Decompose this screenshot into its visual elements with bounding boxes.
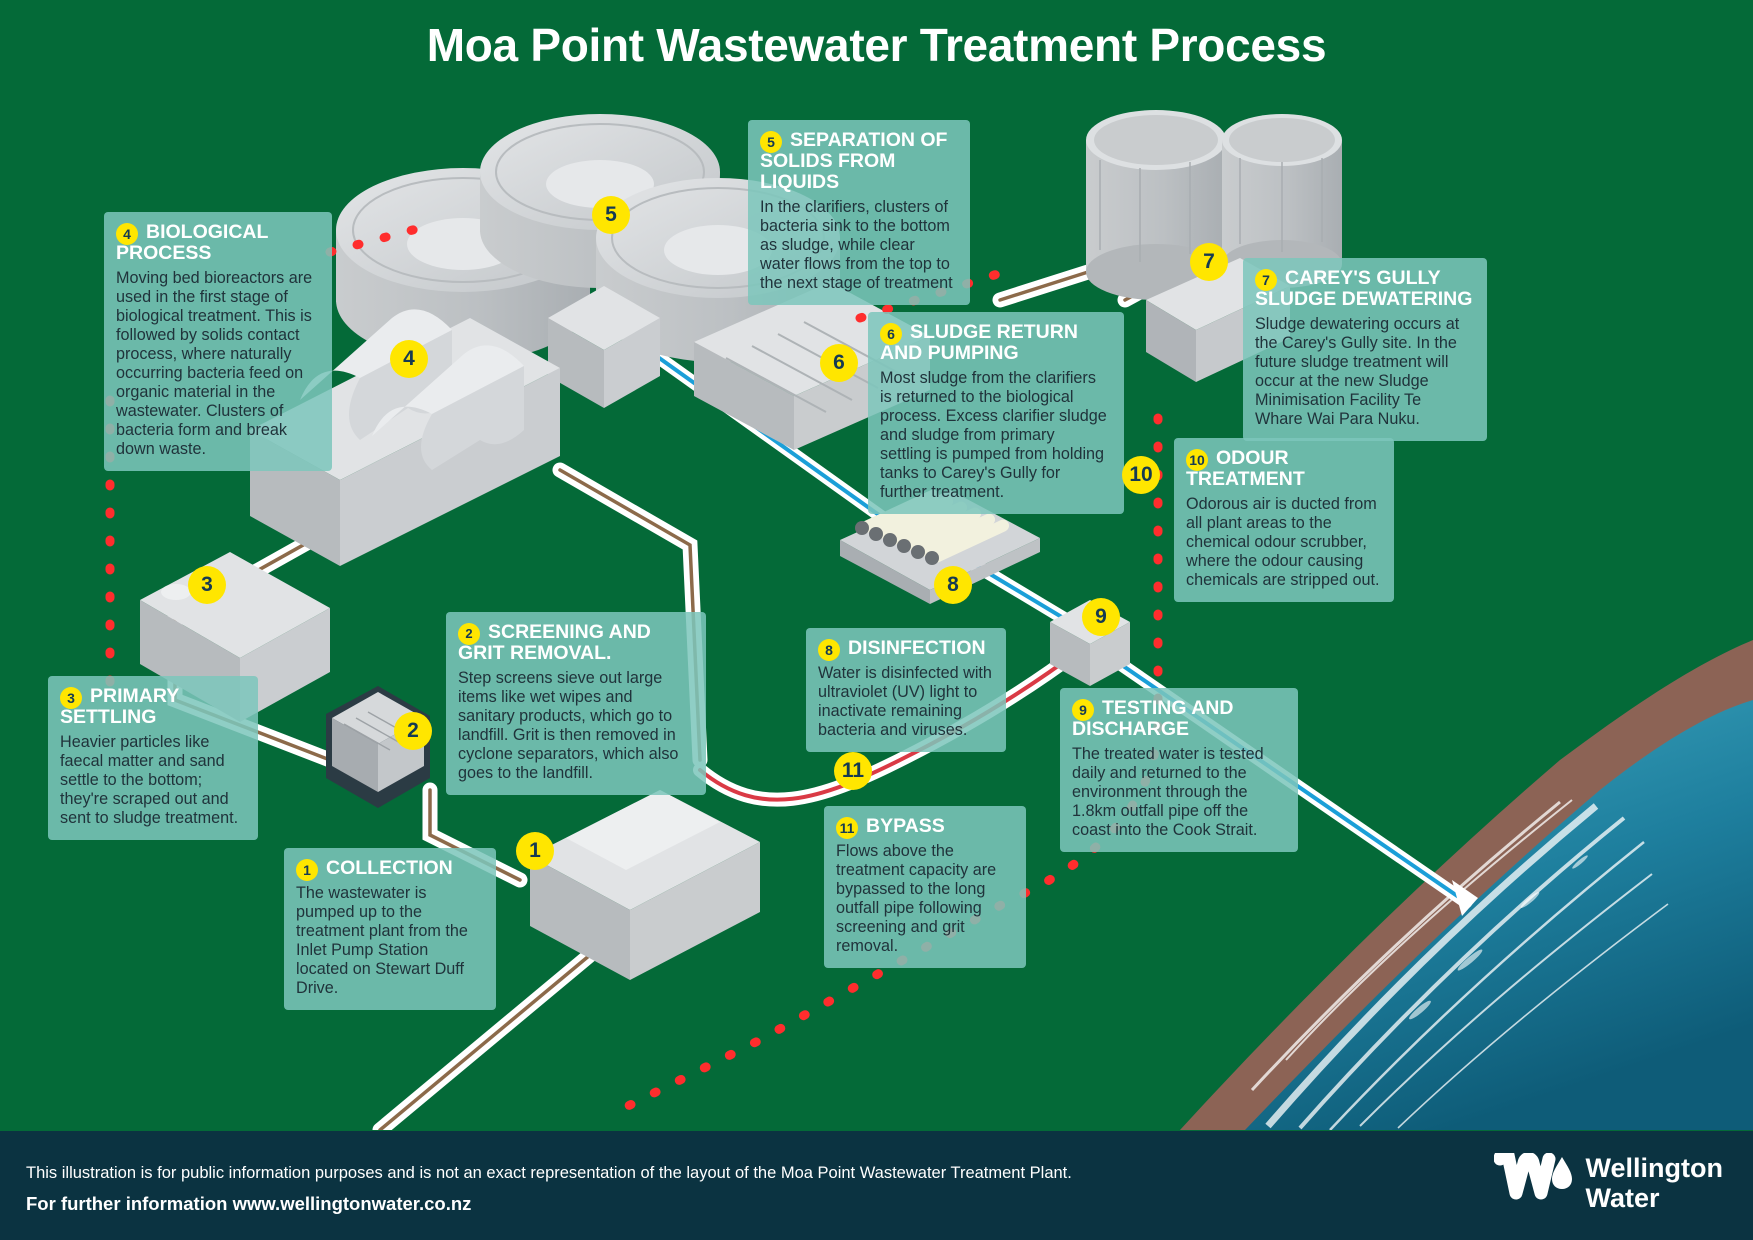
map-marker-8[interactable]: 8 (934, 566, 972, 604)
infographic-canvas: Moa Point Wastewater Treatment Process (0, 0, 1753, 1240)
callout-badge-2: 2 (458, 623, 480, 645)
callout-badge-11: 11 (836, 817, 858, 839)
logo-line-1: Wellington (1586, 1153, 1723, 1183)
callout-heading-8: DISINFECTION (818, 638, 992, 659)
map-marker-6[interactable]: 6 (820, 344, 858, 382)
footer-further-info: For further information www.wellingtonwa… (26, 1193, 471, 1215)
callout-separation: 5 SEPARATION OF SOLIDS FROM LIQUIDS In t… (748, 120, 970, 305)
callout-biological-process: 4 BIOLOGICAL PROCESS Moving bed bioreact… (104, 212, 332, 471)
callout-body-5: In the clarifiers, clusters of bacteria … (760, 198, 956, 293)
inlet-pump-station (530, 790, 760, 980)
callout-heading-7: CAREY'S GULLY SLUDGE DEWATERING (1255, 268, 1473, 310)
callout-sludge-return: 6 SLUDGE RETURN AND PUMPING Most sludge … (868, 312, 1124, 514)
callout-heading-6: SLUDGE RETURN AND PUMPING (880, 322, 1110, 364)
callout-badge-8: 8 (818, 639, 840, 661)
callout-body-2: Step screens sieve out large items like … (458, 669, 692, 783)
callout-badge-6: 6 (880, 323, 902, 345)
footer-bar: This illustration is for public informat… (0, 1131, 1753, 1240)
callout-body-7: Sludge dewatering occurs at the Carey's … (1255, 315, 1473, 429)
map-marker-11[interactable]: 11 (834, 752, 872, 790)
callout-body-1: The wastewater is pumped up to the treat… (296, 884, 482, 998)
callout-odour-treatment: 10 ODOUR TREATMENT Odorous air is ducted… (1174, 438, 1394, 602)
callout-badge-3: 3 (60, 687, 82, 709)
callout-testing-discharge: 9 TESTING AND DISCHARGE The treated wate… (1060, 688, 1298, 852)
callout-heading-1: COLLECTION (296, 858, 482, 879)
callout-body-3: Heavier particles like faecal matter and… (60, 733, 244, 828)
callout-careys-gully: 7 CAREY'S GULLY SLUDGE DEWATERING Sludge… (1243, 258, 1487, 441)
callout-body-8: Water is disinfected with ultraviolet (U… (818, 664, 992, 740)
callout-heading-5: SEPARATION OF SOLIDS FROM LIQUIDS (760, 130, 956, 193)
callout-badge-10: 10 (1186, 449, 1208, 471)
map-marker-9[interactable]: 9 (1082, 598, 1120, 636)
callout-collection: 1 COLLECTION The wastewater is pumped up… (284, 848, 496, 1010)
footer-disclaimer: This illustration is for public informat… (26, 1164, 1072, 1183)
callout-primary-settling: 3 PRIMARY SETTLING Heavier particles lik… (48, 676, 258, 840)
callout-body-11: Flows above the treatment capacity are b… (836, 842, 1012, 956)
callout-body-9: The treated water is tested daily and re… (1072, 745, 1284, 840)
logo-line-2: Water (1586, 1183, 1723, 1213)
callout-heading-10: ODOUR TREATMENT (1186, 448, 1380, 490)
wellington-water-logo[interactable]: Wellington Water (1494, 1153, 1723, 1213)
callout-bypass: 11 BYPASS Flows above the treatment capa… (824, 806, 1026, 968)
map-marker-5[interactable]: 5 (592, 196, 630, 234)
callout-badge-1: 1 (296, 859, 318, 881)
map-marker-3[interactable]: 3 (188, 566, 226, 604)
map-marker-1[interactable]: 1 (516, 832, 554, 870)
map-marker-7[interactable]: 7 (1190, 243, 1228, 281)
map-marker-4[interactable]: 4 (390, 340, 428, 378)
callout-screening-grit: 2 SCREENING AND GRIT REMOVAL. Step scree… (446, 612, 706, 795)
callout-body-6: Most sludge from the clarifiers is retur… (880, 369, 1110, 502)
callout-heading-11: BYPASS (836, 816, 1012, 837)
callout-heading-3: PRIMARY SETTLING (60, 686, 244, 728)
callout-badge-7: 7 (1255, 269, 1277, 291)
callout-disinfection: 8 DISINFECTION Water is disinfected with… (806, 628, 1006, 752)
callout-body-10: Odorous air is ducted from all plant are… (1186, 495, 1380, 590)
callout-heading-2: SCREENING AND GRIT REMOVAL. (458, 622, 692, 664)
callout-heading-9: TESTING AND DISCHARGE (1072, 698, 1284, 740)
callout-body-4: Moving bed bioreactors are used in the f… (116, 269, 318, 459)
wellington-water-mark-icon (1494, 1153, 1572, 1213)
callout-badge-4: 4 (116, 223, 138, 245)
callout-heading-4: BIOLOGICAL PROCESS (116, 222, 318, 264)
map-marker-2[interactable]: 2 (394, 712, 432, 750)
map-marker-10[interactable]: 10 (1122, 456, 1160, 494)
callout-badge-5: 5 (760, 131, 782, 153)
callout-badge-9: 9 (1072, 699, 1094, 721)
